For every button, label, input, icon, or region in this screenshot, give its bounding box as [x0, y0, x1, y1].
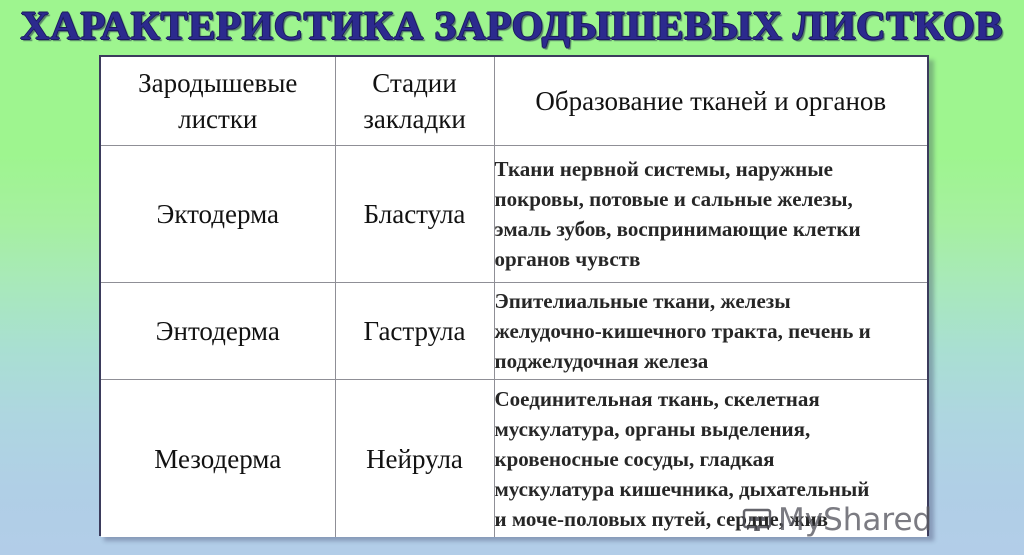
tissue-line: органов чувств — [495, 244, 928, 274]
cell-stage-neurula: Нейрула — [335, 380, 494, 538]
tissue-line: Соединительная ткань, скелетная — [495, 384, 928, 414]
table-row: Энтодерма Гаструла Эпителиальные ткани, … — [101, 283, 927, 380]
tissue-line: мускулатура, органы выделения, — [495, 414, 928, 444]
column-header-stages-line2: закладки — [363, 104, 466, 134]
table-header-row: Зародышевые листки Стадии закладки Образ… — [101, 57, 927, 146]
column-header-germ-layers-line2: листки — [178, 104, 257, 134]
tissue-line: поджелудочная железа — [495, 346, 928, 376]
tissue-line: желудочно-кишечного тракта, печень и — [495, 316, 928, 346]
slide-title-bar: ХАРАКТЕРИСТИКА ЗАРОДЫШЕВЫХ ЛИСТКОВ — [0, 0, 1024, 52]
column-header-tissues-organs-line1: Образование тканей и — [535, 86, 788, 116]
cell-stage-gastrula: Гаструла — [335, 283, 494, 380]
column-header-germ-layers: Зародышевые листки — [101, 57, 335, 146]
cell-layer-mesoderm: Мезодерма — [101, 380, 335, 538]
table-row: Мезодерма Нейрула Соединительная ткань, … — [101, 380, 927, 538]
cell-tissues-ectoderm: Ткани нервной системы, наружные покровы,… — [494, 146, 927, 283]
tissue-line: Эпителиальные ткани, железы — [495, 286, 928, 316]
column-header-tissues-organs-line2: органов — [795, 86, 886, 116]
column-header-germ-layers-line1: Зародышевые — [138, 68, 297, 98]
tissue-line: эмаль зубов, воспринимающие клетки — [495, 214, 928, 244]
germ-layers-table-container: Зародышевые листки Стадии закладки Образ… — [99, 55, 929, 536]
tissue-line: Ткани нервной системы, наружные — [495, 154, 928, 184]
column-header-stages: Стадии закладки — [335, 57, 494, 146]
cell-layer-ectoderm: Эктодерма — [101, 146, 335, 283]
column-header-stages-line1: Стадии — [372, 68, 456, 98]
cell-layer-endoderm: Энтодерма — [101, 283, 335, 380]
tissue-line: и моче-половых путей, сердце, жив — [495, 504, 928, 534]
tissue-line: кровеносные сосуды, гладкая — [495, 444, 928, 474]
table-row: Эктодерма Бластула Ткани нервной системы… — [101, 146, 927, 283]
tissue-line: покровы, потовые и сальные железы, — [495, 184, 928, 214]
cell-stage-blastula: Бластула — [335, 146, 494, 283]
tissue-line: мускулатура кишечника, дыхательный — [495, 474, 928, 504]
cell-tissues-mesoderm: Соединительная ткань, скелетная мускулат… — [494, 380, 927, 538]
page-title: ХАРАКТЕРИСТИКА ЗАРОДЫШЕВЫХ ЛИСТКОВ — [21, 4, 1004, 48]
column-header-tissues-organs: Образование тканей и органов — [494, 57, 927, 146]
germ-layers-table: Зародышевые листки Стадии закладки Образ… — [101, 57, 927, 537]
cell-tissues-endoderm: Эпителиальные ткани, железы желудочно-ки… — [494, 283, 927, 380]
